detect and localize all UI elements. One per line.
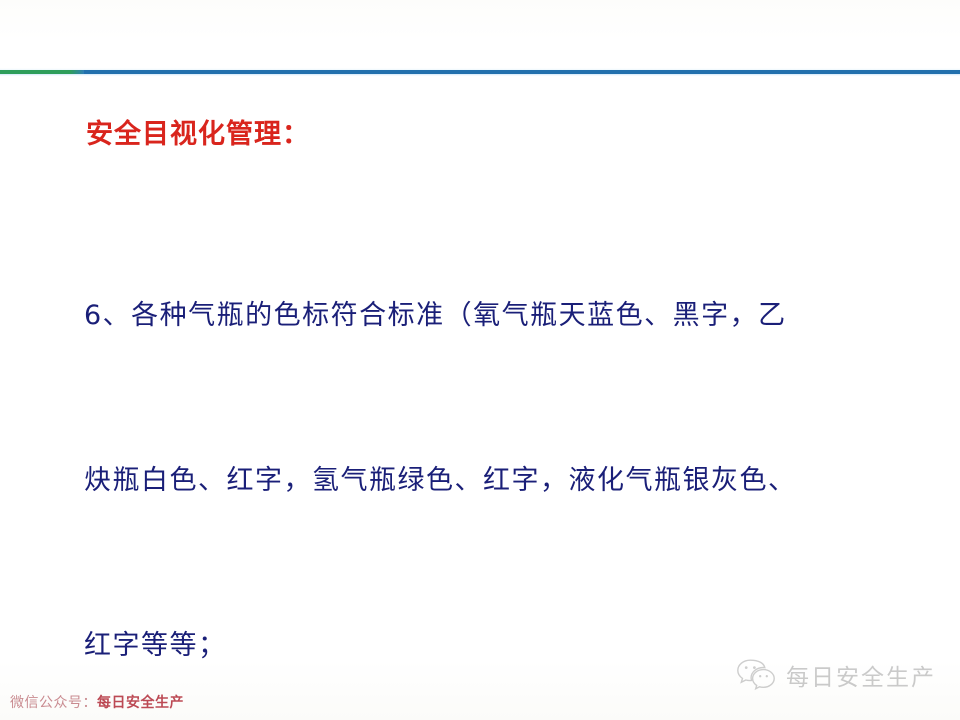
credit-account-name: 每日安全生产 [97, 695, 184, 711]
credit-label: 微信公众号： [10, 695, 97, 711]
bullet-line: 炔瓶白色、红字，氢气瓶绿色、红字，液化气瓶银灰色、 [84, 453, 884, 508]
bullet-line: 6、各种气瓶的色标符合标准（氧气瓶天蓝色、黑字，乙 [84, 288, 884, 343]
watermark: 每日安全生产 [736, 658, 936, 692]
divider-blue-segment [78, 70, 960, 74]
list-item: 6、各种气瓶的色标符合标准（氧气瓶天蓝色、黑字，乙 炔瓶白色、红字，氢气瓶绿色、… [84, 178, 884, 720]
wechat-icon [736, 658, 776, 692]
header-divider [0, 68, 960, 76]
divider-green-segment [0, 70, 78, 74]
channel-credit: 微信公众号：每日安全生产 [10, 692, 184, 712]
watermark-text: 每日安全生产 [786, 658, 936, 692]
slide-canvas: 安全目视化管理： 6、各种气瓶的色标符合标准（氧气瓶天蓝色、黑字，乙 炔瓶白色、… [0, 0, 960, 720]
divider-gradient-joint [70, 70, 84, 74]
bullet-list: 6、各种气瓶的色标符合标准（氧气瓶天蓝色、黑字，乙 炔瓶白色、红字，氢气瓶绿色、… [84, 178, 884, 720]
page-title: 安全目视化管理： [86, 112, 310, 151]
